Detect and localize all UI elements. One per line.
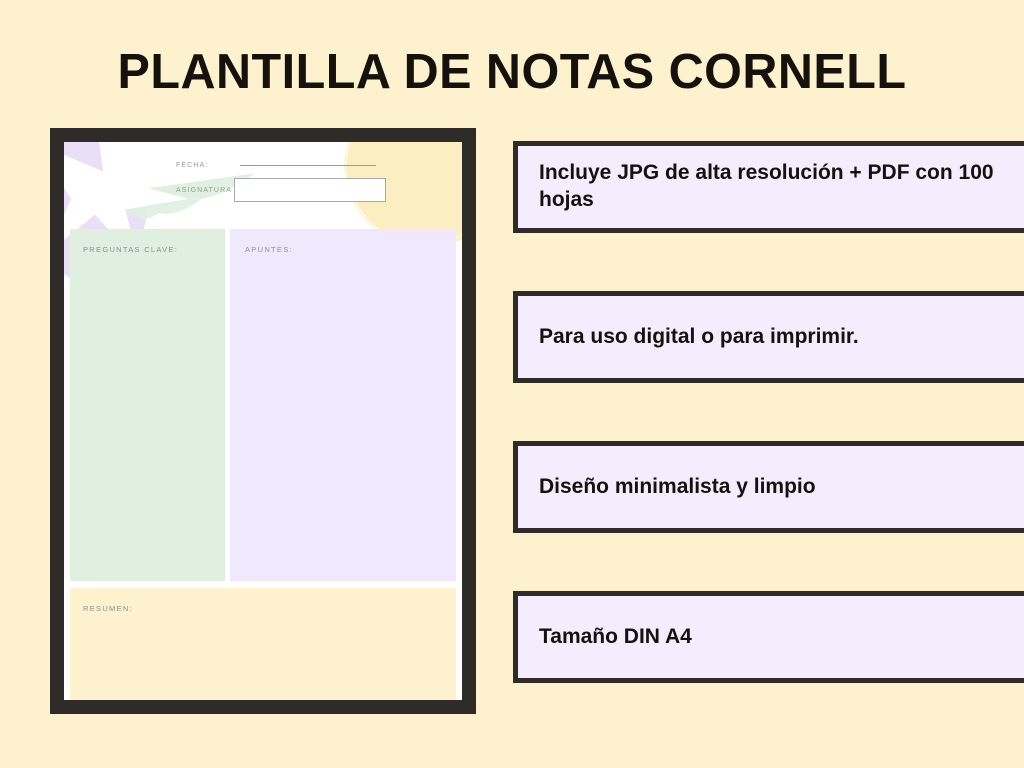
preguntas-clave-column[interactable]: PREGUNTAS CLAVE: — [70, 229, 225, 581]
feature-list: Incluye JPG de alta resolución + PDF con… — [513, 141, 1024, 741]
feature-text-2: Para uso digital o para imprimir. — [539, 324, 859, 351]
apuntes-label: APUNTES: — [245, 245, 293, 254]
template-preview-frame: FECHA: ASIGNATURA PREGUNTAS CLAVE: APUNT… — [50, 128, 476, 714]
asignatura-label: ASIGNATURA — [176, 187, 234, 194]
template-columns: PREGUNTAS CLAVE: APUNTES: — [70, 229, 456, 581]
asignatura-input-box[interactable] — [234, 178, 386, 202]
feature-box-2: Para uso digital o para imprimir. — [513, 291, 1024, 383]
page-title: PLANTILLA DE NOTAS CORNELL — [5, 44, 1019, 100]
feature-text-4: Tamaño DIN A4 — [539, 624, 692, 651]
apuntes-column[interactable]: APUNTES: — [230, 229, 456, 581]
preguntas-clave-label: PREGUNTAS CLAVE: — [83, 245, 178, 254]
feature-box-1: Incluye JPG de alta resolución + PDF con… — [513, 141, 1024, 233]
feature-box-3: Diseño minimalista y limpio — [513, 441, 1024, 533]
fecha-label: FECHA: — [176, 162, 234, 169]
feature-text-3: Diseño minimalista y limpio — [539, 474, 816, 501]
template-header-fields: FECHA: ASIGNATURA — [176, 162, 386, 211]
resumen-section[interactable]: RESUMEN: — [70, 588, 456, 700]
feature-box-4: Tamaño DIN A4 — [513, 591, 1024, 683]
field-row-asignatura: ASIGNATURA — [176, 178, 386, 202]
fecha-input-rule[interactable] — [240, 165, 376, 166]
template-preview-page: FECHA: ASIGNATURA PREGUNTAS CLAVE: APUNT… — [64, 142, 462, 700]
field-row-fecha: FECHA: — [176, 162, 386, 169]
feature-text-1: Incluye JPG de alta resolución + PDF con… — [539, 160, 1017, 214]
resumen-label: RESUMEN: — [83, 604, 133, 613]
